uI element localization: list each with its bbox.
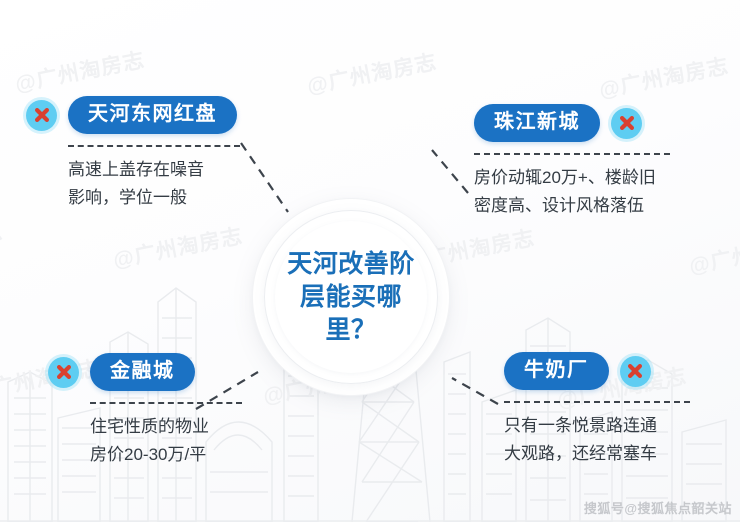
label-pill-niunai[interactable]: 牛奶厂 <box>504 352 609 390</box>
watermark-text: @广州淘房志 <box>304 46 439 101</box>
center-question-line-2: 层能买哪里？ <box>281 281 421 347</box>
desc-line-2: 房价20-30万/平 <box>90 442 242 468</box>
desc-line-1: 只有一条悦景路连通 <box>504 413 690 439</box>
block-niunai: 牛奶厂 只有一条悦景路连通 大观路，还经常塞车 <box>504 352 690 467</box>
dashed-divider <box>68 145 240 147</box>
block-header: 金融城 <box>48 353 242 391</box>
connector-zhujiang <box>432 150 468 193</box>
label-pill-tianhedong[interactable]: 天河东网红盘 <box>68 96 237 134</box>
block-tianhedong: 天河东网红盘 高速上盖存在噪音 影响，学位一般 <box>26 96 240 211</box>
center-question: 天河改善阶 层能买哪里？ <box>281 248 421 347</box>
desc-line-1: 住宅性质的物业 <box>90 414 242 440</box>
x-mark-icon <box>26 100 57 131</box>
label-pill-jinrong[interactable]: 金融城 <box>90 353 195 391</box>
desc-line-2: 大观路，还经常塞车 <box>504 441 690 467</box>
center-ring: 天河改善阶 层能买哪里？ <box>253 199 449 395</box>
x-mark-icon <box>48 357 79 388</box>
dashed-divider <box>504 401 690 403</box>
watermark-text: @广州淘房志 <box>12 44 147 99</box>
block-header: 珠江新城 <box>474 104 670 142</box>
desc-line-2: 密度高、设计风格落伍 <box>474 193 670 219</box>
desc-line-1: 高速上盖存在噪音 <box>68 157 240 183</box>
infographic-canvas: @广州淘房志 @广州淘房志 @广州淘房志 @广州淘房志 @广州淘房志 @广州淘房… <box>0 0 740 522</box>
x-mark-icon <box>620 356 651 387</box>
dashed-divider <box>90 402 242 404</box>
desc-line-2: 影响，学位一般 <box>68 185 240 211</box>
watermark-text: @广州淘房志 <box>110 220 245 275</box>
label-pill-zhujiang[interactable]: 珠江新城 <box>474 104 600 142</box>
footer-watermark: 搜狐号@搜狐焦点韶关站 <box>584 498 732 517</box>
ring-inner: 天河改善阶 层能买哪里？ <box>275 221 427 373</box>
block-zhujiang: 珠江新城 房价动辄20万+、楼龄旧 密度高、设计风格落伍 <box>474 104 670 219</box>
connector-niunai <box>452 378 498 404</box>
block-header: 天河东网红盘 <box>26 96 240 134</box>
block-header: 牛奶厂 <box>504 352 690 390</box>
desc-line-1: 房价动辄20万+、楼龄旧 <box>474 165 670 191</box>
block-jinrong: 金融城 住宅性质的物业 房价20-30万/平 <box>48 353 242 468</box>
dashed-divider <box>474 153 670 155</box>
x-mark-icon <box>611 108 642 139</box>
watermark-text: @广州淘房志 <box>0 216 5 271</box>
center-question-line-1: 天河改善阶 <box>281 248 421 281</box>
watermark-text: @广州淘房志 <box>596 50 731 105</box>
watermark-text: @广州淘房志 <box>686 226 740 281</box>
